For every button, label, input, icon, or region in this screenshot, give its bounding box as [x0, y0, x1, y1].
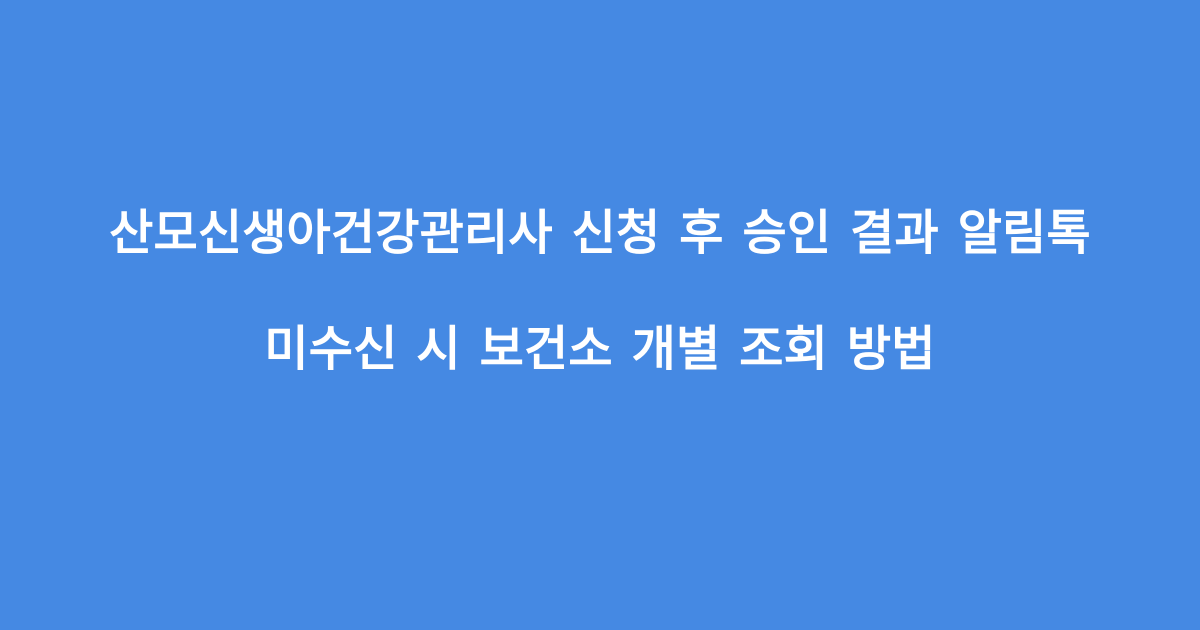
page-title: 산모신생아건강관리사 신청 후 승인 결과 알림톡 미수신 시 보건소 개별 조… — [40, 146, 1160, 484]
thumbnail-card: 산모신생아건강관리사 신청 후 승인 결과 알림톡 미수신 시 보건소 개별 조… — [0, 0, 1200, 630]
headline-line-1: 산모신생아건강관리사 신청 후 승인 결과 알림톡 — [40, 204, 1160, 262]
headline-line-2: 미수신 시 보건소 개별 조회 방법 — [40, 320, 1160, 378]
